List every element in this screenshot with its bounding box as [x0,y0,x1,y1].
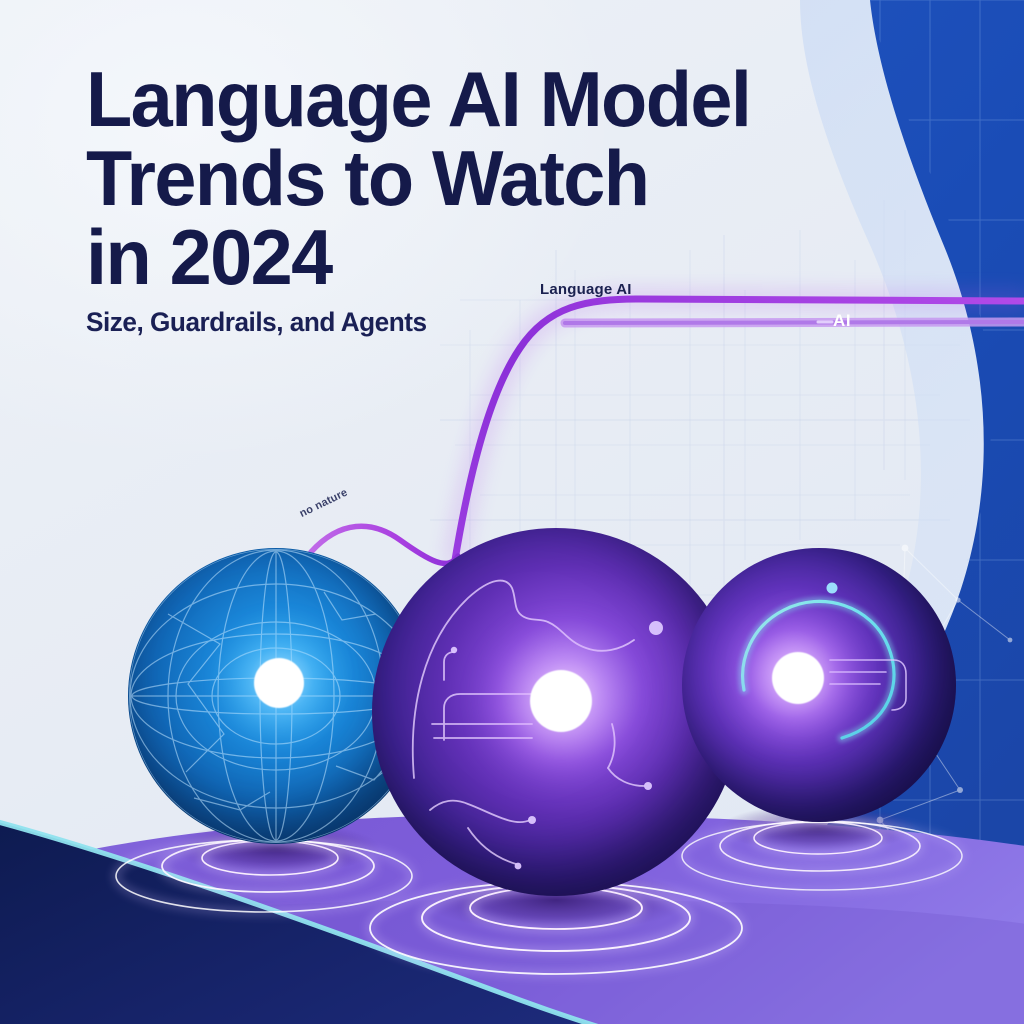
poster-title-block: Language AI Model Trends to Watch in 202… [86,62,846,338]
purple-sphere-core [530,670,592,732]
title-line-2: Trends to Watch [86,141,823,216]
right-sphere-core [772,652,824,704]
title-line-3: in 2024 [86,220,823,295]
purple-arc-sphere [682,548,956,822]
poster-subtitle: Size, Guardrails, and Agents [86,307,823,338]
title-line-1: Language AI Model [86,62,823,137]
blue-sphere-core [254,658,304,708]
poster-canvas: Language AI Model Trends to Watch in 202… [0,0,1024,1024]
